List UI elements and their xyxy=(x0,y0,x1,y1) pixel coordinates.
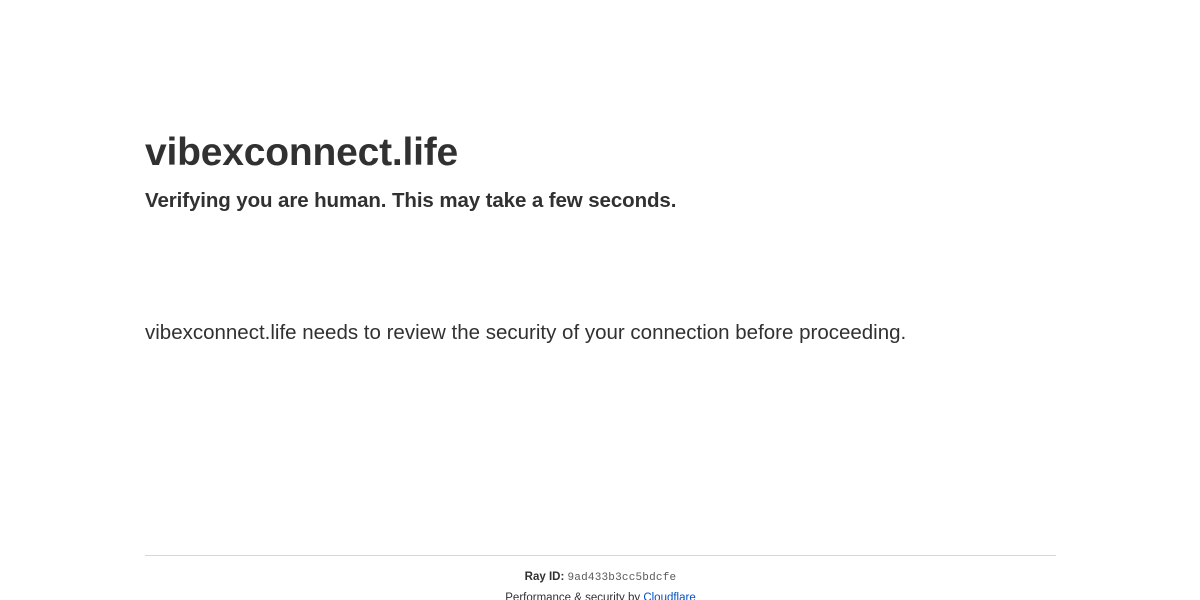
challenge-page: vibexconnect.life Verifying you are huma… xyxy=(0,0,1200,600)
attribution-prefix: Performance & security by xyxy=(505,592,643,600)
challenge-description: vibexconnect.life needs to review the se… xyxy=(145,315,945,351)
verification-status-message: Verifying you are human. This may take a… xyxy=(145,187,1056,215)
page-footer: Ray ID: 9ad433b3cc5bdcfe Performance & s… xyxy=(145,556,1056,600)
ray-id-label: Ray ID: xyxy=(525,571,565,583)
attribution-line: Performance & security by Cloudflare xyxy=(145,591,1056,600)
challenge-content: vibexconnect.life Verifying you are huma… xyxy=(145,0,1056,351)
ray-id-value: 9ad433b3cc5bdcfe xyxy=(568,572,677,584)
page-title: vibexconnect.life xyxy=(145,129,1056,177)
turnstile-widget-slot[interactable] xyxy=(145,233,445,305)
ray-id-line: Ray ID: 9ad433b3cc5bdcfe xyxy=(145,570,1056,585)
cloudflare-link[interactable]: Cloudflare xyxy=(643,592,695,600)
